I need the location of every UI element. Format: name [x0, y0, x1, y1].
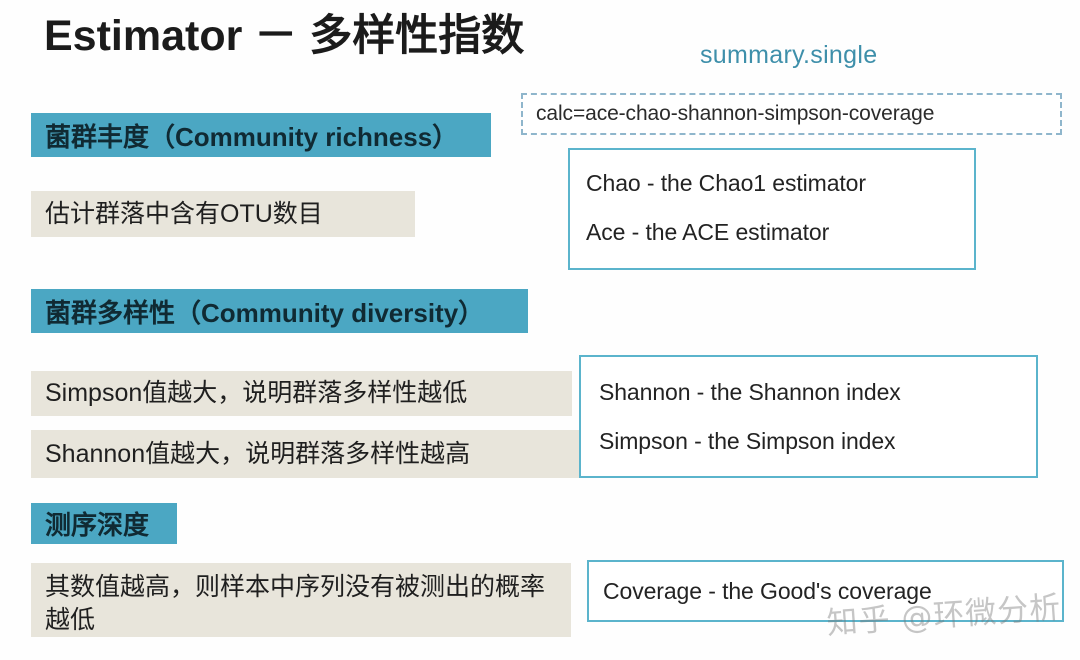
note-sequencing-depth: 其数值越高，则样本中序列没有被测出的概率越低: [31, 563, 571, 637]
note-text: 其数值越高，则样本中序列没有被测出的概率越低: [31, 571, 557, 637]
estimator-definition-box: Chao - the Chao1 estimator Ace - the ACE…: [568, 148, 976, 270]
slide-canvas: Estimator － 多样性指数 summary.single calc=ac…: [0, 0, 1080, 660]
note-text: Shannon值越大，说明群落多样性越高: [31, 438, 470, 471]
definition-line-chao: Chao - the Chao1 estimator: [586, 170, 974, 197]
section-header-label: 测序深度: [31, 505, 149, 542]
definition-line-ace: Ace - the ACE estimator: [586, 219, 974, 246]
section-header-label: 菌群多样性（Community diversity）: [31, 293, 484, 330]
definition-line-coverage: Coverage - the Good's coverage: [603, 578, 932, 605]
calc-parameter-text: calc=ace-chao-shannon-simpson-coverage: [523, 102, 934, 126]
note-simpson-meaning: Simpson值越大，说明群落多样性越低: [31, 371, 572, 416]
calc-parameter-box: calc=ace-chao-shannon-simpson-coverage: [521, 93, 1062, 135]
definition-line-simpson: Simpson - the Simpson index: [599, 428, 1036, 455]
definition-line-shannon: Shannon - the Shannon index: [599, 379, 1036, 406]
index-definition-box: Shannon - the Shannon index Simpson - th…: [579, 355, 1038, 478]
command-heading: summary.single: [700, 41, 877, 70]
note-community-richness: 估计群落中含有OTU数目: [31, 191, 415, 237]
section-header-label: 菌群丰度（Community richness）: [31, 117, 458, 154]
page-title: Estimator － 多样性指数: [44, 12, 524, 61]
section-header-sequencing-depth: 测序深度: [31, 503, 177, 544]
note-text: 估计群落中含有OTU数目: [31, 198, 323, 231]
coverage-definition-box: Coverage - the Good's coverage: [587, 560, 1064, 622]
note-shannon-meaning: Shannon值越大，说明群落多样性越高: [31, 430, 606, 478]
section-header-community-diversity: 菌群多样性（Community diversity）: [31, 289, 528, 333]
note-text: Simpson值越大，说明群落多样性越低: [31, 377, 467, 410]
section-header-community-richness: 菌群丰度（Community richness）: [31, 113, 491, 157]
